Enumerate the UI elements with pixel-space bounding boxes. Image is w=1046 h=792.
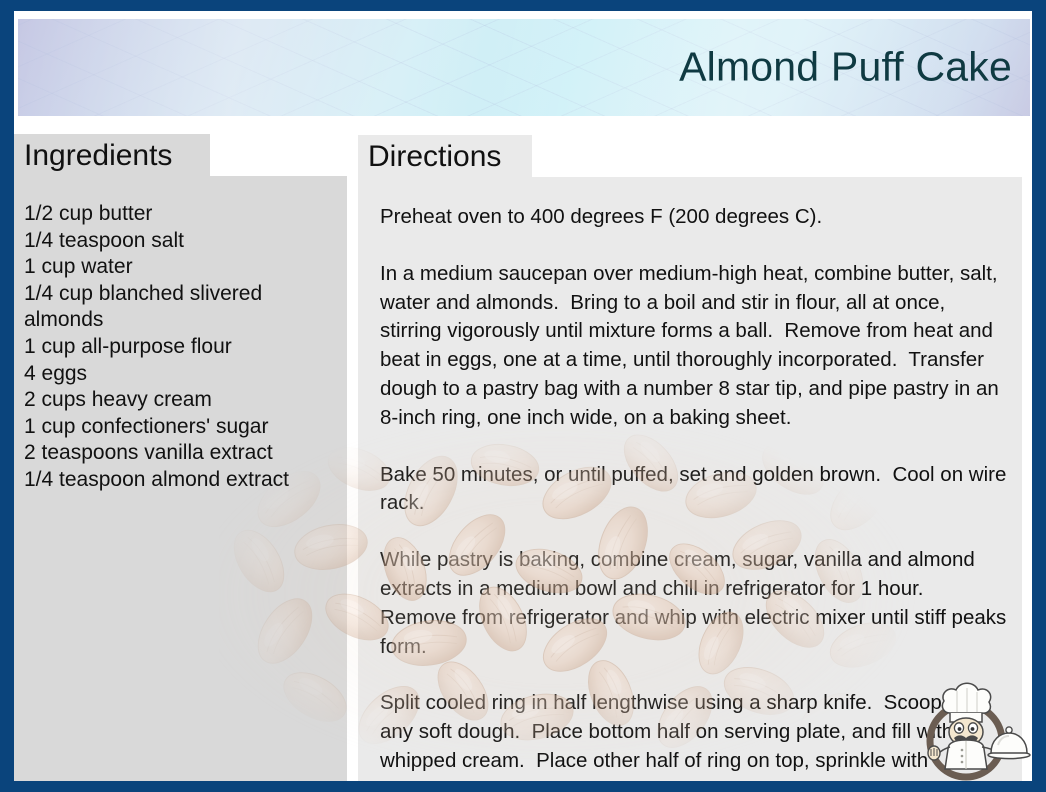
direction-step: Bake 50 minutes, or until puffed, set an… xyxy=(380,461,1010,519)
section-header-ingredients: Ingredients xyxy=(14,134,210,176)
directions-panel: Preheat oven to 400 degrees F (200 degre… xyxy=(358,177,1022,781)
section-header-directions: Directions xyxy=(358,135,532,177)
direction-step: In a medium saucepan over medium-high he… xyxy=(380,260,1010,433)
list-item: 1/4 cup blanched slivered almonds xyxy=(24,281,339,334)
list-item: 1/2 cup butter xyxy=(24,201,339,228)
list-item: 1 cup water xyxy=(24,254,339,281)
list-item: 4 eggs xyxy=(24,361,339,388)
directions-list: Preheat oven to 400 degrees F (200 degre… xyxy=(380,203,1010,781)
recipe-card-body: Almond Puff Cake Ingredients Directions … xyxy=(14,11,1032,781)
direction-step: Preheat oven to 400 degrees F (200 degre… xyxy=(380,203,1010,232)
ingredients-heading: Ingredients xyxy=(24,139,172,172)
list-item: 1/4 teaspoon salt xyxy=(24,228,339,255)
list-item: 1/4 teaspoon almond extract xyxy=(24,467,339,494)
list-item: 1 cup all-purpose flour xyxy=(24,334,339,361)
header-banner: Almond Puff Cake xyxy=(18,19,1030,116)
list-item: 1 cup confectioners' sugar xyxy=(24,414,339,441)
page-title: Almond Puff Cake xyxy=(679,45,1012,88)
ingredients-panel: 1/2 cup butter 1/4 teaspoon salt 1 cup w… xyxy=(14,176,347,781)
list-item: 2 cups heavy cream xyxy=(24,387,339,414)
directions-heading: Directions xyxy=(368,140,501,173)
recipe-card-frame: Almond Puff Cake Ingredients Directions … xyxy=(0,0,1046,792)
direction-step: Split cooled ring in half lengthwise usi… xyxy=(380,689,1010,781)
ingredients-list: 1/2 cup butter 1/4 teaspoon salt 1 cup w… xyxy=(24,201,339,494)
direction-step: While pastry is baking, combine cream, s… xyxy=(380,546,1010,661)
list-item: 2 teaspoons vanilla extract xyxy=(24,440,339,467)
